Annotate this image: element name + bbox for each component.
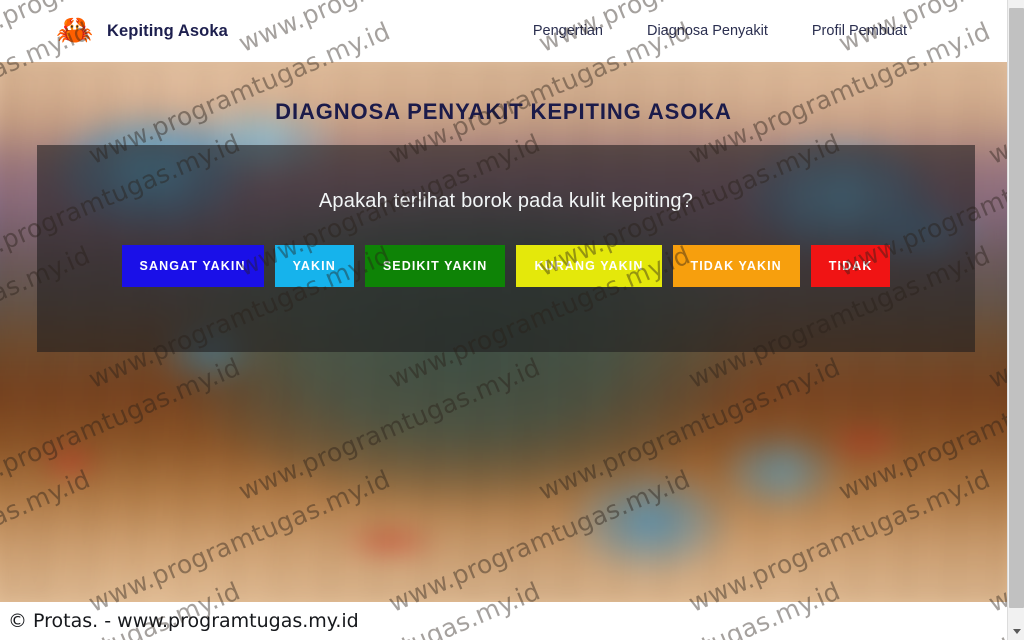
brand-logo-group[interactable]: 🦀 Kepiting Asoka xyxy=(55,11,228,51)
answer-button-tidak[interactable]: TIDAK xyxy=(811,245,891,287)
page-viewport: 🦀 Kepiting Asoka Pengertian Diagnosa Pen… xyxy=(0,0,1007,640)
nav-item-pengertian[interactable]: Pengertian xyxy=(511,17,625,45)
brand-title: Kepiting Asoka xyxy=(107,22,228,41)
main-nav: Pengertian Diagnosa Penyakit Profil Pemb… xyxy=(511,17,929,45)
answer-button-row: SANGAT YAKIN YAKIN SEDIKIT YAKIN KURANG … xyxy=(37,245,975,287)
answer-button-sangat-yakin[interactable]: SANGAT YAKIN xyxy=(122,245,264,287)
vertical-scrollbar[interactable] xyxy=(1007,0,1024,640)
site-header: 🦀 Kepiting Asoka Pengertian Diagnosa Pen… xyxy=(0,0,1007,62)
footer-copyright-text: © Protas. - www.programtugas.my.id xyxy=(8,610,359,632)
browser-page: 🦀 Kepiting Asoka Pengertian Diagnosa Pen… xyxy=(0,0,1024,640)
diagnosis-question-panel: Apakah terlihat borok pada kulit kepitin… xyxy=(37,145,975,352)
question-text: Apakah terlihat borok pada kulit kepitin… xyxy=(37,190,975,213)
answer-button-tidak-yakin[interactable]: TIDAK YAKIN xyxy=(673,245,800,287)
answer-button-sedikit-yakin[interactable]: SEDIKIT YAKIN xyxy=(365,245,506,287)
chevron-down-icon xyxy=(1013,629,1021,634)
answer-button-kurang-yakin[interactable]: KURANG YAKIN xyxy=(516,245,661,287)
page-title: DIAGNOSA PENYAKIT KEPITING ASOKA xyxy=(0,99,1007,125)
scrollbar-thumb[interactable] xyxy=(1009,8,1024,608)
scrollbar-down-button[interactable] xyxy=(1008,623,1024,640)
crab-icon: 🦀 xyxy=(55,11,95,51)
answer-button-yakin[interactable]: YAKIN xyxy=(275,245,354,287)
site-footer: © Protas. - www.programtugas.my.id xyxy=(0,602,1007,640)
nav-item-profil-pembuat[interactable]: Profil Pembuat xyxy=(790,17,929,45)
nav-item-diagnosa-penyakit[interactable]: Diagnosa Penyakit xyxy=(625,17,790,45)
